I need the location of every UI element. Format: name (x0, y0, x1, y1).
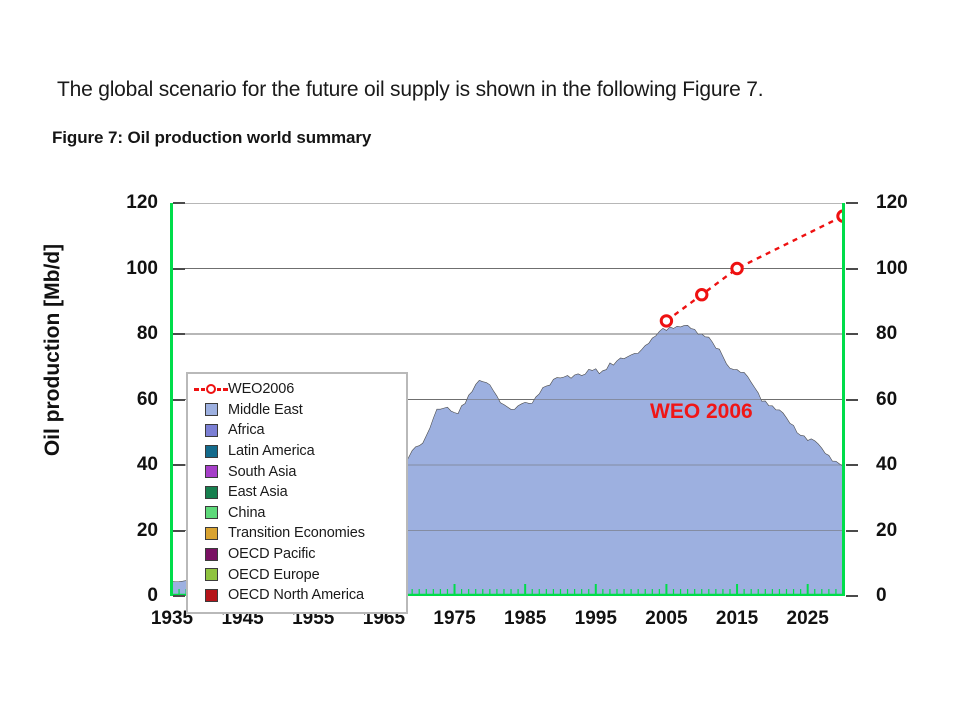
x-axis-tick-label: 2015 (707, 608, 767, 630)
legend-item-label: South Asia (228, 464, 296, 480)
x-axis-tick-label: 1975 (425, 608, 485, 630)
y-axis-tick-label-left: 80 (112, 324, 158, 343)
legend-item-weo2006[interactable]: WEO2006 (194, 379, 400, 400)
y-axis-tick-mark-left (173, 268, 185, 270)
legend-item-south-asia[interactable]: South Asia (194, 461, 400, 482)
color-swatch-icon (205, 465, 218, 478)
legend-item-oecd-pacific[interactable]: OECD Pacific (194, 544, 400, 565)
color-swatch-icon (205, 506, 218, 519)
y-axis-tick-mark-right (846, 530, 858, 532)
legend-item-label: WEO2006 (228, 381, 294, 397)
color-swatch-icon (205, 403, 218, 416)
y-axis-tick-mark-right (846, 399, 858, 401)
x-axis-tick-label: 1985 (495, 608, 555, 630)
oil-production-chart: Oil production [Mb/d] 120100806040200 12… (0, 178, 960, 648)
y-axis-tick-mark-left (173, 595, 185, 597)
color-swatch-icon (205, 568, 218, 581)
color-swatch-icon (205, 424, 218, 437)
x-axis-tick-label: 2025 (778, 608, 838, 630)
dash-segment-icon (201, 388, 205, 391)
legend-color-swatch (194, 527, 228, 540)
y-axis-tick-label-right: 20 (876, 521, 922, 540)
legend-item-latin-america[interactable]: Latin America (194, 441, 400, 462)
y-axis-tick-label-left: 60 (112, 390, 158, 409)
legend-item-middle-east[interactable]: Middle East (194, 400, 400, 421)
y-axis-tick-label-left: 100 (112, 259, 158, 278)
legend-color-swatch (194, 403, 228, 416)
legend-item-label: OECD Europe (228, 567, 320, 583)
y-axis-tick-label-right: 100 (876, 259, 922, 278)
color-swatch-icon (205, 486, 218, 499)
y-axis-tick-label-left: 0 (112, 586, 158, 605)
legend-item-china[interactable]: China (194, 503, 400, 524)
intro-paragraph: The global scenario for the future oil s… (57, 78, 763, 102)
legend-item-label: OECD Pacific (228, 546, 315, 562)
y-axis-tick-mark-right (846, 202, 858, 204)
legend-color-swatch (194, 589, 228, 602)
legend-item-oecd-north-america[interactable]: OECD North America (194, 585, 400, 606)
legend-color-swatch (194, 424, 228, 437)
y-axis-tick-mark-left (173, 530, 185, 532)
legend-color-swatch (194, 548, 228, 561)
y-axis-tick-mark-left (173, 202, 185, 204)
chart-legend[interactable]: WEO2006Middle EastAfricaLatin AmericaSou… (186, 372, 408, 614)
figure-caption: Figure 7: Oil production world summary (52, 128, 371, 148)
legend-item-label: Transition Economies (228, 525, 365, 541)
color-swatch-icon (205, 445, 218, 458)
circle-marker-icon (206, 384, 216, 394)
legend-item-label: OECD North America (228, 587, 364, 603)
legend-item-label: East Asia (228, 484, 288, 500)
legend-item-label: Africa (228, 422, 264, 438)
color-swatch-icon (205, 527, 218, 540)
page-root: The global scenario for the future oil s… (0, 0, 960, 720)
dash-segment-icon (217, 388, 221, 391)
weo2006-marker (661, 316, 671, 326)
y-axis-tick-label-left: 20 (112, 521, 158, 540)
x-axis-tick-label: 2005 (636, 608, 696, 630)
y-axis-tick-label-right: 40 (876, 455, 922, 474)
y-axis-tick-mark-right (846, 595, 858, 597)
y-axis-tick-label-right: 0 (876, 586, 922, 605)
y-axis-tick-mark-right (846, 268, 858, 270)
color-swatch-icon (205, 548, 218, 561)
y-axis-tick-label-right: 80 (876, 324, 922, 343)
y-axis-tick-mark-left (173, 464, 185, 466)
legend-color-swatch (194, 465, 228, 478)
dash-segment-icon (223, 388, 228, 391)
weo2006-line-icon (194, 383, 228, 396)
x-axis-tick-label: 1995 (566, 608, 626, 630)
legend-item-transition-economies[interactable]: Transition Economies (194, 523, 400, 544)
legend-item-label: Middle East (228, 402, 303, 418)
legend-color-swatch (194, 486, 228, 499)
legend-color-swatch (194, 506, 228, 519)
legend-item-oecd-europe[interactable]: OECD Europe (194, 564, 400, 585)
y-axis-tick-mark-left (173, 399, 185, 401)
legend-item-africa[interactable]: Africa (194, 420, 400, 441)
legend-color-swatch (194, 568, 228, 581)
legend-color-swatch (194, 445, 228, 458)
legend-item-label: Latin America (228, 443, 315, 459)
right-axis-line (842, 203, 845, 596)
weo2006-marker (697, 290, 707, 300)
y-axis-title: Oil production [Mb/d] (41, 185, 65, 515)
dash-segment-icon (194, 388, 199, 391)
y-axis-tick-label-left: 120 (112, 193, 158, 212)
y-axis-tick-mark-left (173, 333, 185, 335)
dashed-line-marker-icon (194, 383, 228, 396)
legend-item-east-asia[interactable]: East Asia (194, 482, 400, 503)
y-axis-tick-label-right: 120 (876, 193, 922, 212)
y-axis-tick-mark-right (846, 464, 858, 466)
y-axis-tick-label-right: 60 (876, 390, 922, 409)
y-axis-tick-mark-right (846, 333, 858, 335)
y-axis-tick-label-left: 40 (112, 455, 158, 474)
legend-item-label: China (228, 505, 265, 521)
weo-annotation-label: WEO 2006 (650, 400, 753, 424)
weo2006-marker (732, 263, 742, 273)
color-swatch-icon (205, 589, 218, 602)
